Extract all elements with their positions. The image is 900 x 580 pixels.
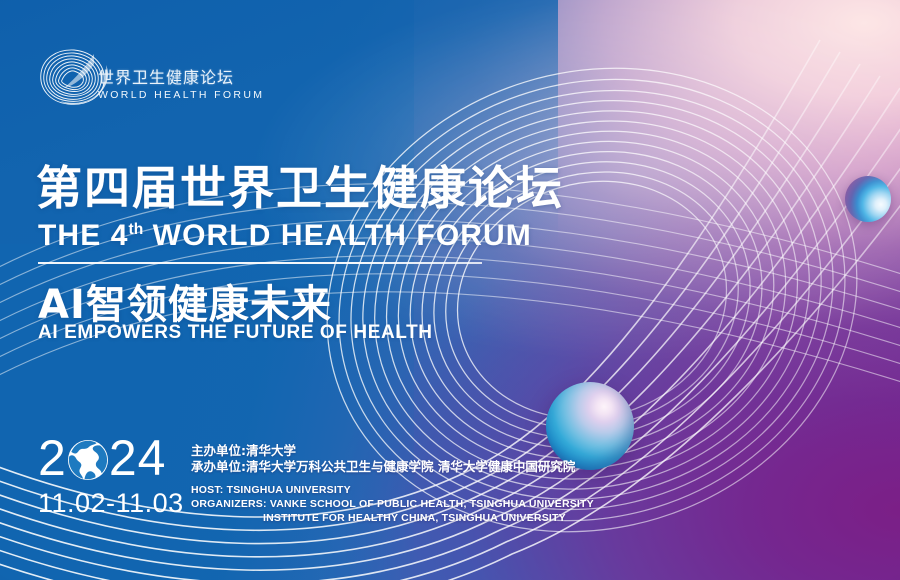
host-cn: 主办单位:清华大学 xyxy=(191,443,711,459)
page-title-cn: 第四届世界卫生健康论坛 xyxy=(36,152,564,218)
organizers-cn: 承办单位:清华大学万科公共卫生与健康学院 清华大学健康中国研究院 xyxy=(191,459,711,475)
organizers-en-line-1: ORGANIZERS: VANKE SCHOOL OF PUBLIC HEALT… xyxy=(191,497,711,511)
page-title-en: THE 4th WORLD HEALTH FORUM xyxy=(38,219,532,253)
organizers-block: 主办单位:清华大学 承办单位:清华大学万科公共卫生与健康学院 清华大学健康中国研… xyxy=(191,443,711,525)
globe-icon xyxy=(67,439,109,481)
page-subtitle-en: AI EMPOWERS THE FUTURE OF HEALTH xyxy=(38,322,433,344)
gradient-sphere-small xyxy=(845,176,891,222)
forum-logo-text: 世界卫生健康论坛 WORLD HEALTH FORUM xyxy=(98,70,238,101)
event-year-digits-last: 24 xyxy=(109,430,167,486)
title-divider xyxy=(38,262,482,264)
forum-logo-name-en: WORLD HEALTH FORUM xyxy=(98,89,238,101)
page-title-en-pre: THE 4 xyxy=(38,219,129,252)
event-date-block: 2 24 11.02-11.03 xyxy=(38,432,198,524)
host-en: HOST: TSINGHUA UNIVERSITY xyxy=(191,483,711,497)
page-title-en-post: WORLD HEALTH FORUM xyxy=(143,219,532,252)
event-date-range: 11.02-11.03 xyxy=(38,488,184,519)
page-title-en-ordinal-suffix: th xyxy=(129,221,144,238)
event-year: 2 24 xyxy=(38,432,198,484)
organizers-en-line-2: INSTITUTE FOR HEALTHY CHINA, TSINGHUA UN… xyxy=(191,511,711,525)
forum-logo-name-cn: 世界卫生健康论坛 xyxy=(98,70,238,87)
forum-logo[interactable]: 世界卫生健康论坛 WORLD HEALTH FORUM xyxy=(34,44,234,118)
event-year-digit-first: 2 xyxy=(38,430,67,486)
conference-poster: 世界卫生健康论坛 WORLD HEALTH FORUM 第四届世界卫生健康论坛 … xyxy=(0,0,900,580)
